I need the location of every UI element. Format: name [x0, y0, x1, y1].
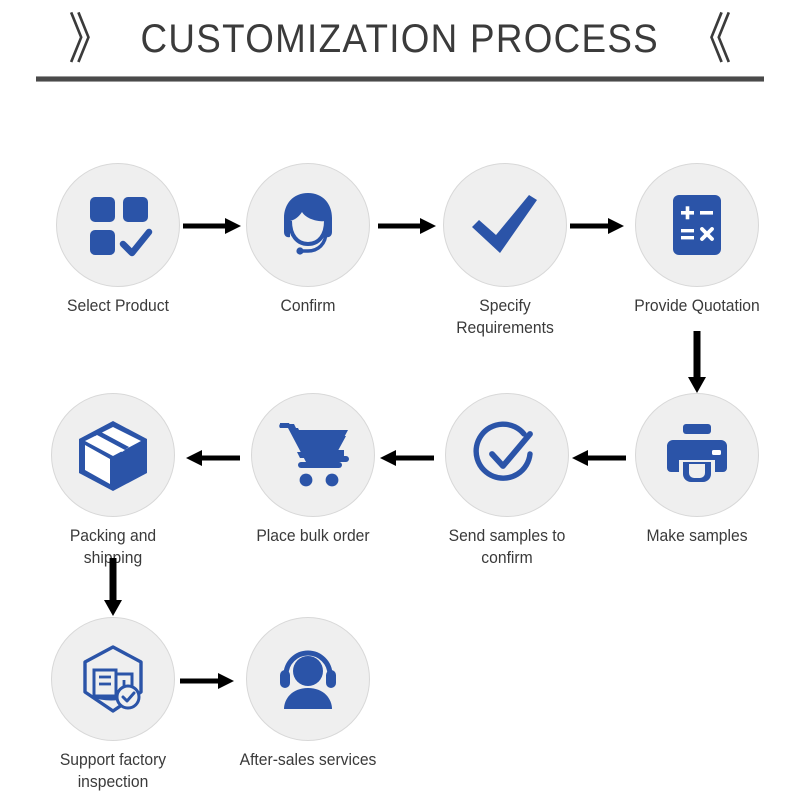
step-icon-circle: [635, 163, 759, 287]
connector-arrow-left: [380, 447, 434, 469]
step-label: Send samples to confirm: [436, 526, 579, 570]
step-label: Make samples: [626, 526, 769, 548]
headset-operator-icon: [271, 188, 345, 262]
headphones-person-icon: [272, 645, 344, 713]
step-label: Provide Quotation: [626, 296, 769, 318]
step-node-support-factory-inspection[interactable]: Support factory inspection: [38, 617, 188, 794]
step-node-send-samples-to-confirm[interactable]: Send samples to confirm: [432, 393, 582, 570]
connector-arrow-right: [183, 215, 241, 237]
step-node-specify-requirements[interactable]: Specify Requirements: [430, 163, 580, 340]
circle-check-icon: [470, 418, 544, 492]
step-icon-circle: [251, 393, 375, 517]
step-icon-circle: [635, 393, 759, 517]
step-icon-circle: [445, 393, 569, 517]
package-box-icon: [75, 417, 151, 493]
calculator-icon: [663, 191, 731, 259]
connector-arrow-left: [186, 447, 240, 469]
step-node-place-bulk-order[interactable]: Place bulk order: [238, 393, 388, 548]
step-node-confirm[interactable]: Confirm: [233, 163, 383, 318]
step-node-make-samples[interactable]: Make samples: [622, 393, 772, 548]
page-header: 》 CUSTOMIZATION PROCESS 《: [0, 0, 800, 92]
page-title: CUSTOMIZATION PROCESS: [137, 17, 663, 62]
double-chevron-left-icon: 《: [686, 12, 732, 66]
step-icon-circle: [56, 163, 180, 287]
step-icon-circle: [51, 393, 175, 517]
connector-arrow-right: [378, 215, 436, 237]
step-icon-circle: [246, 617, 370, 741]
connector-arrow-right: [570, 215, 624, 237]
step-icon-circle: [443, 163, 567, 287]
title-row: 》 CUSTOMIZATION PROCESS 《: [0, 8, 800, 70]
connector-arrow-right: [180, 670, 234, 692]
step-icon-circle: [246, 163, 370, 287]
step-node-select-product[interactable]: Select Product: [43, 163, 193, 318]
title-divider: [36, 76, 764, 82]
double-chevron-right-icon: 》: [68, 12, 114, 66]
connector-arrow-down: [102, 558, 124, 616]
connector-arrow-left: [572, 447, 626, 469]
factory-inspection-shield-icon: [76, 642, 150, 716]
step-label: Specify Requirements: [434, 296, 577, 340]
connector-arrow-down: [686, 331, 708, 393]
grid-check-icon: [83, 190, 153, 260]
checkmark-icon: [467, 187, 543, 263]
step-label: Select Product: [47, 296, 190, 318]
step-label: After-sales services: [237, 750, 380, 772]
printer-icon: [661, 420, 733, 490]
shopping-cart-icon: [276, 422, 350, 488]
step-label: Support factory inspection: [42, 750, 185, 794]
step-node-after-sales-services[interactable]: After-sales services: [233, 617, 383, 772]
step-node-provide-quotation[interactable]: Provide Quotation: [622, 163, 772, 318]
step-icon-circle: [51, 617, 175, 741]
step-label: Confirm: [237, 296, 380, 318]
step-node-packing-and-shipping[interactable]: Packing and shipping: [38, 393, 188, 570]
step-label: Place bulk order: [242, 526, 385, 548]
